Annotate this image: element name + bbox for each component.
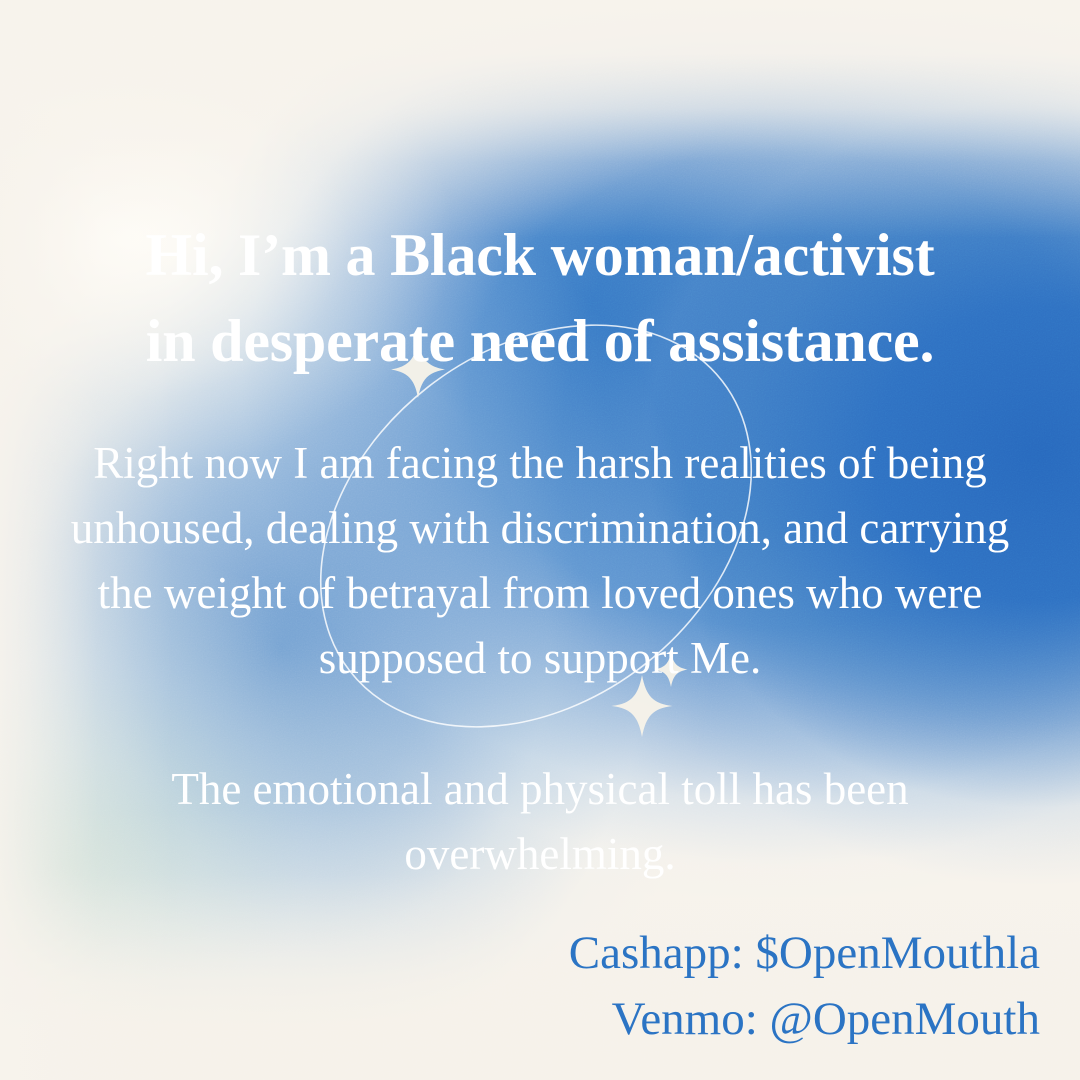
headline-line-1: Hi, I’m a Black woman/activist bbox=[0, 212, 1080, 298]
poster-content: Hi, I’m a Black woman/activist in desper… bbox=[0, 0, 1080, 1080]
body-p1-line-2: unhoused, dealing with discrimination, a… bbox=[14, 496, 1066, 561]
payment-handles: Cashapp: $OpenMouthla Venmo: @OpenMouth bbox=[569, 920, 1040, 1052]
venmo-handle[interactable]: Venmo: @OpenMouth bbox=[569, 986, 1040, 1052]
body-p1-line-4: supposed to support Me. bbox=[14, 626, 1066, 691]
poster-canvas: Hi, I’m a Black woman/activist in desper… bbox=[0, 0, 1080, 1080]
body-paragraph-2: The emotional and physical toll has been… bbox=[14, 757, 1066, 887]
body-paragraph-1: Right now I am facing the harsh realitie… bbox=[14, 431, 1066, 691]
cashapp-handle[interactable]: Cashapp: $OpenMouthla bbox=[569, 920, 1040, 986]
body-p1-line-1: Right now I am facing the harsh realitie… bbox=[14, 431, 1066, 496]
page-title: Hi, I’m a Black woman/activist in desper… bbox=[0, 212, 1080, 384]
body-p1-line-3: the weight of betrayal from loved ones w… bbox=[14, 561, 1066, 626]
body-p2-line-1: The emotional and physical toll has been bbox=[14, 757, 1066, 822]
headline-line-2: in desperate need of assistance. bbox=[0, 298, 1080, 384]
body-p2-line-2: overwhelming. bbox=[14, 822, 1066, 887]
